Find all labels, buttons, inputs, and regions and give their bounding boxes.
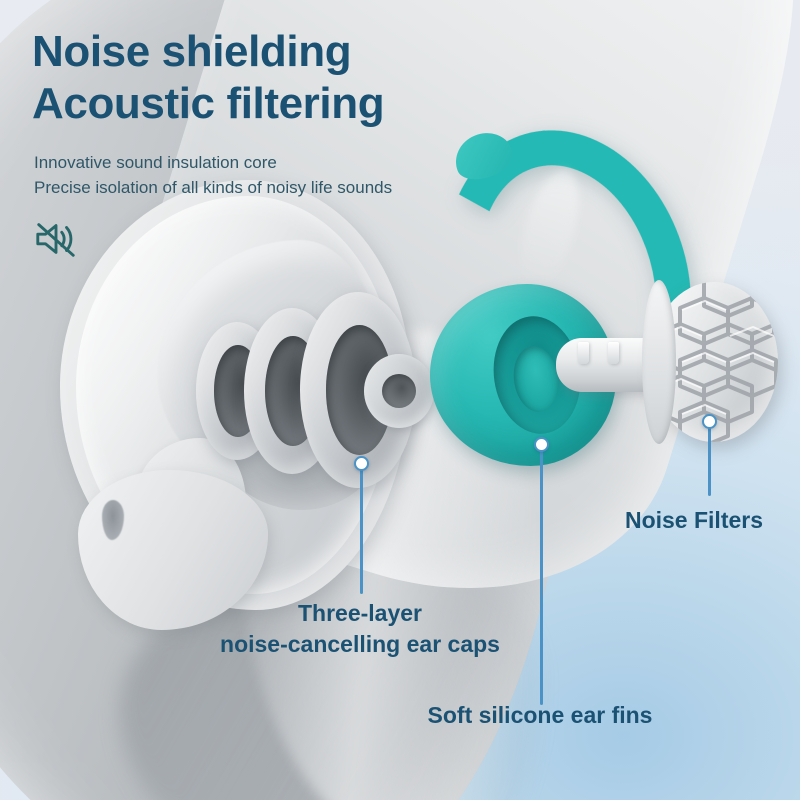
leader-line-stem — [540, 445, 543, 705]
leader-line-stem — [708, 422, 711, 496]
page-subtitle: Innovative sound insulation core Precise… — [34, 150, 392, 200]
leader-dot — [702, 414, 717, 429]
leader-dot — [354, 456, 369, 471]
ear-cap-core-stem — [364, 354, 434, 428]
leader-dot — [534, 437, 549, 452]
noise-filter-stem-tab — [578, 342, 589, 364]
noise-filter-stem-tab — [608, 342, 619, 364]
callout-label-ear-fins: Soft silicone ear fins — [316, 700, 764, 731]
page-title: Noise shielding Acoustic filtering — [32, 26, 384, 130]
three-layer-ear-caps — [196, 286, 466, 496]
leader-line-stem — [360, 464, 363, 594]
speaker-mute-icon — [33, 216, 79, 262]
noise-filter-part — [556, 276, 796, 456]
noise-filter-disc-rim — [642, 280, 676, 444]
product-poster: Noise shielding Acoustic filtering Innov… — [0, 0, 800, 800]
callout-label-noise-filters: Noise Filters — [588, 505, 800, 536]
callout-label-ear-caps: Three-layer noise-cancelling ear caps — [130, 598, 590, 660]
